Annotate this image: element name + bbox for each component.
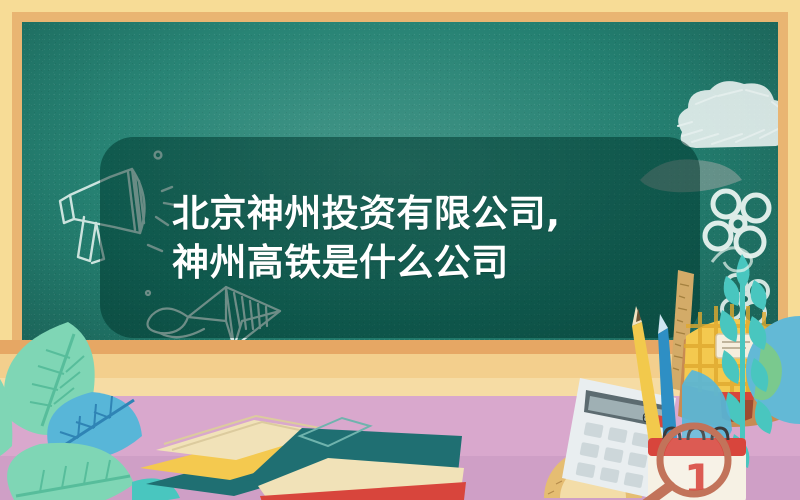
swirl-chalk-icon — [706, 232, 766, 278]
book-stack-mid — [238, 406, 468, 500]
magnifying-glass-icon — [626, 420, 746, 500]
page-title: 北京神州投资有限公司,神州高铁是什么公司 — [172, 189, 584, 287]
cover-image-canvas: 北京神州投资有限公司,神州高铁是什么公司 — [0, 0, 800, 500]
